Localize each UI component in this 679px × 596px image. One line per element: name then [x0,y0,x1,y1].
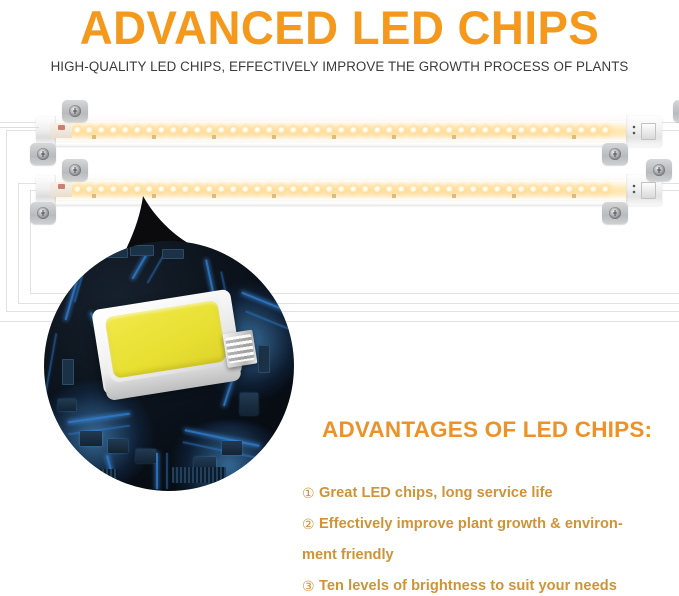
list-marker-icon: ② [302,509,319,540]
mounting-bracket-top-right-lower [602,143,628,165]
page-title: ADVANCED LED CHIPS [10,2,669,54]
power-lead-top [0,127,39,128]
mounting-bracket-bottom-right-lower [602,202,628,224]
connector-port [641,182,656,199]
advantages-list: ① Great LED chips, long service life ② E… [302,478,662,596]
mounting-bracket-top-left-lower [30,143,56,165]
list-item-text: Effectively improve plant growth & envir… [319,509,623,540]
list-marker-icon: ① [302,478,319,509]
list-marker-icon: ③ [302,571,319,596]
advantages-heading: ADVANTAGES OF LED CHIPS: [322,416,652,444]
mounting-bracket-bottom-left [62,159,88,181]
chip-lead-contacts [225,334,255,364]
bar-internal-red-component [58,125,65,130]
list-item-text-continuation: ment friendly [302,540,662,571]
connector-contacts [632,125,640,136]
mounting-bracket-bottom-left-lower [30,202,56,224]
magnified-chip-view [44,241,294,491]
mounting-bracket-top-right [673,100,679,122]
connector-port [641,123,656,140]
mounting-bracket-bottom-right [646,159,672,181]
list-item: ① Great LED chips, long service life [302,478,662,509]
connector-contacts [632,184,640,195]
bar-connector-right [626,115,662,147]
list-item-text: Great LED chips, long service life [319,478,553,509]
page-subtitle: HIGH-QUALITY LED CHIPS, EFFECTIVELY IMPR… [20,58,658,76]
list-item: ② Effectively improve plant growth & env… [302,509,662,540]
bar-internal-red-component [58,184,65,189]
mounting-bracket-top-left [62,100,88,122]
infographic-page: ADVANCED LED CHIPS HIGH-QUALITY LED CHIP… [0,0,679,596]
led-grow-light-bar-top [36,116,662,146]
list-item: ③ Ten levels of brightness to suit your … [302,571,662,596]
bar-led-channel [52,121,628,141]
list-item-text: Ten levels of brightness to suit your ne… [319,571,617,596]
